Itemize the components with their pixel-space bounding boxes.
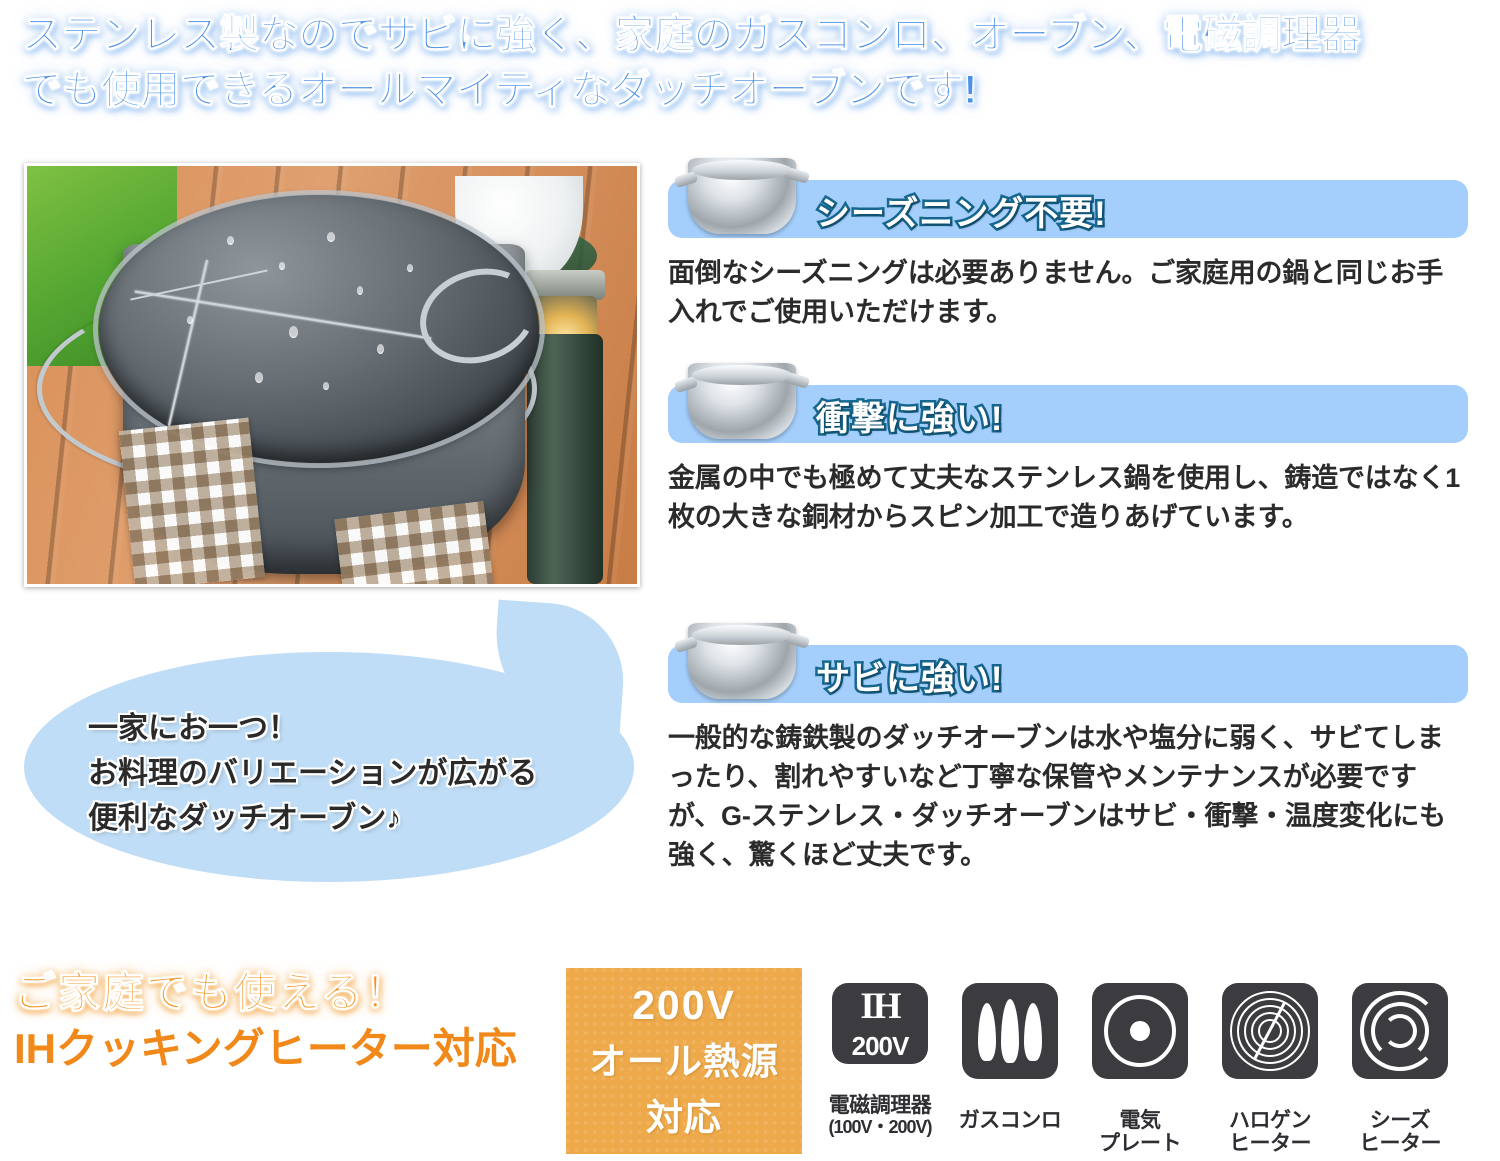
photo-water-droplet [289, 326, 298, 338]
page-headline: ステンレス製なのでサビに強く、家庭のガスコンロ、オーブン、電磁調理器 でも使用で… [22, 8, 1482, 118]
feature-block-rust: サビに強い! 一般的な鋳鉄製のダッチオーブンは水や塩分に弱く、サビてしまったり、… [668, 645, 1468, 875]
feature-title: サビに強い! [816, 651, 1003, 700]
photo-water-droplet [357, 286, 363, 295]
photo-water-droplet [187, 316, 193, 324]
badge-heatsource-label: オール熱源 [589, 1031, 779, 1085]
ih-label: IH [832, 988, 928, 1025]
ih-200v-icon: IH 200V [832, 983, 928, 1064]
speech-bubble-text: 一家にお一つ！ お料理のバリエーションが広がる 便利なダッチオーブン♪ [88, 706, 648, 841]
photo-water-droplet [323, 382, 329, 390]
halogen-heater-icon [1222, 983, 1318, 1079]
photo-water-droplet [227, 236, 234, 245]
bottom-heading: ご家庭でも使える！ IHクッキングヒーター対応 [14, 968, 574, 1073]
heat-source-item-electric-plate: 電気 プレート [1082, 983, 1198, 1161]
pot-thumbnail-lid [692, 160, 792, 180]
pot-thumbnail-lid [692, 365, 792, 385]
pot-thumbnail-lid [692, 625, 792, 645]
icon-caption-sub: (100V・200V) [828, 1117, 931, 1137]
feature-body-text: 金属の中でも極めて丈夫なステンレス鍋を使用し、鋳造ではなく1枚の大きな銅材からス… [668, 459, 1468, 537]
feature-block-impact: 衝撃に強い! 金属の中でも極めて丈夫なステンレス鍋を使用し、鋳造ではなく1枚の大… [668, 385, 1468, 537]
icon-caption-main: ガスコンロ [959, 1109, 1062, 1132]
icon-caption-main: 電磁調理器 [829, 1094, 932, 1117]
icon-caption: シーズ ヒーター [1359, 1085, 1441, 1156]
all-heat-source-badge: 200V オール熱源 対応 [566, 968, 802, 1154]
product-photo [24, 163, 640, 587]
pot-thumbnail-icon [688, 623, 796, 699]
badge-voltage-label: 200V [632, 982, 736, 1029]
feature-title-bar: サビに強い! [668, 645, 1468, 703]
icon-caption-main: 電気 プレート [1099, 1109, 1181, 1156]
gas-burner-icon [962, 983, 1058, 1079]
feature-title: シーズニング不要! [816, 186, 1107, 235]
icon-caption: 電磁調理器 (100V・200V) [828, 1070, 931, 1161]
feature-title: 衝撃に強い! [816, 391, 1003, 440]
flame-shape [1001, 999, 1019, 1063]
bottom-heading-line1: ご家庭でも使える！ [14, 968, 574, 1018]
icon-caption: ハロゲン ヒーター [1229, 1085, 1311, 1156]
feature-body-text: 一般的な鋳鉄製のダッチオーブンは水や塩分に弱く、サビてしまったり、割れやすいなど… [668, 719, 1468, 875]
speech-bubble: 一家にお一つ！ お料理のバリエーションが広がる 便利なダッチオーブン♪ [14, 600, 654, 890]
photo-water-droplet [255, 372, 263, 383]
feature-title-bar: シーズニング不要! [668, 180, 1468, 238]
bottom-heading-line2: IHクッキングヒーター対応 [14, 1024, 574, 1074]
heat-source-item-ih: IH 200V 電磁調理器 (100V・200V) [822, 983, 938, 1161]
badge-support-label: 対応 [646, 1087, 722, 1141]
photo-water-droplet [327, 232, 335, 242]
sheath-heater-icon [1352, 983, 1448, 1079]
electric-plate-icon [1092, 983, 1188, 1079]
feature-title-bar: 衝撃に強い! [668, 385, 1468, 443]
photo-water-droplet [377, 344, 384, 354]
flame-shape [1024, 1003, 1042, 1061]
photo-water-droplet [407, 264, 413, 272]
photo-lantern-body [527, 334, 603, 584]
feature-block-seasoning: シーズニング不要! 面倒なシーズニングは必要ありません。ご家庭用の鍋と同じお手入… [668, 180, 1468, 332]
icon-caption-main: シーズ ヒーター [1359, 1109, 1441, 1156]
photo-water-droplet [279, 262, 285, 270]
feature-body-text: 面倒なシーズニングは必要ありません。ご家庭用の鍋と同じお手入れでご使用いただけま… [668, 254, 1468, 332]
ih-voltage-label: 200V [832, 1033, 928, 1059]
heat-source-item-gas: ガスコンロ [952, 983, 1068, 1161]
flame-shape [978, 1003, 996, 1061]
icon-caption: 電気 プレート [1099, 1085, 1181, 1156]
coil-ring-inner [1383, 1014, 1417, 1048]
pot-thumbnail-icon [688, 363, 796, 439]
pot-thumbnail-icon [688, 158, 796, 234]
photo-checkered-towel [119, 418, 265, 587]
heat-source-icon-row: IH 200V 電磁調理器 (100V・200V) ガスコンロ 電気 プレート [822, 983, 1482, 1161]
plate-center-dot [1130, 1021, 1150, 1041]
heat-source-item-sheath: シーズ ヒーター [1342, 983, 1458, 1161]
icon-caption-main: ハロゲン ヒーター [1229, 1109, 1311, 1156]
icon-caption: ガスコンロ [959, 1085, 1062, 1132]
heat-source-item-halogen: ハロゲン ヒーター [1212, 983, 1328, 1161]
